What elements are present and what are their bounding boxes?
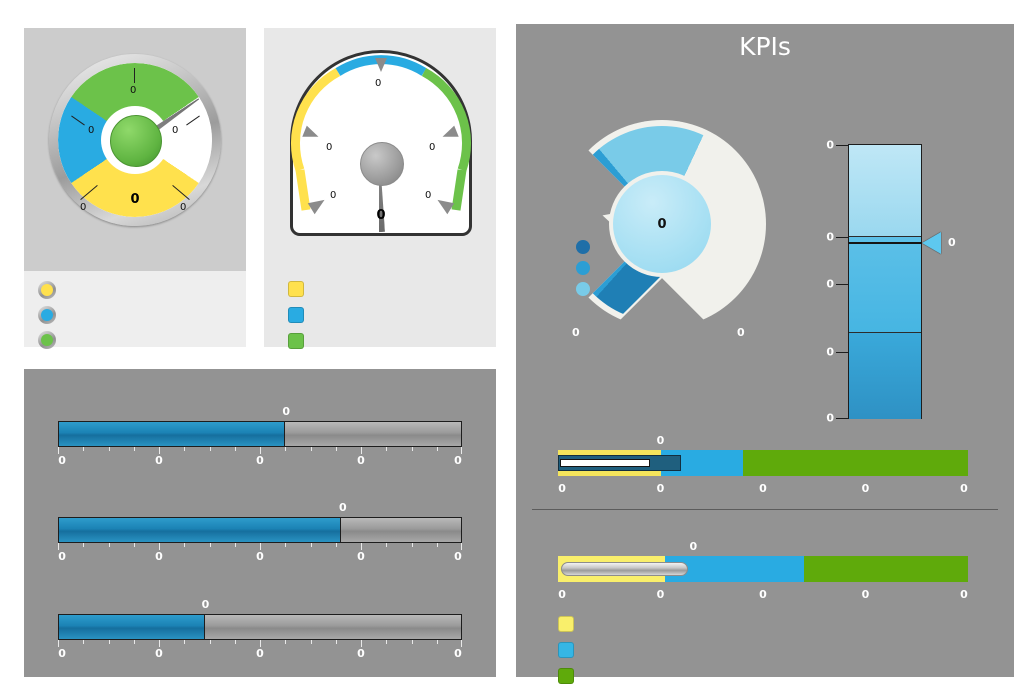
range-pointer-label: 0 [948, 236, 956, 249]
progress-bar-3-fill [59, 615, 205, 639]
range-tick [836, 352, 848, 353]
progress-bar-1-value: 0 [282, 405, 290, 418]
range-axis-label: 0 [826, 346, 834, 359]
axis-label: 0 [357, 454, 365, 467]
legend-item-green[interactable] [38, 331, 56, 349]
axis-label: 0 [960, 482, 968, 495]
range-marker-line [848, 242, 922, 244]
bullet-top-target [560, 459, 650, 467]
bullet-graph-bottom[interactable]: 0 0 0 0 0 0 [558, 556, 968, 604]
range-tick [836, 284, 848, 285]
range-pointer-icon [922, 232, 941, 254]
progress-bar-1-axis: 0 0 0 0 0 [58, 454, 462, 468]
legend-item-yellow[interactable] [288, 281, 304, 297]
range-axis-label: 0 [826, 412, 834, 425]
bullet-bottom-value: 0 [689, 540, 697, 553]
kpis-title: KPIs [516, 32, 1014, 61]
speedometer-gauge[interactable]: 0 0 0 0 0 0 [290, 50, 472, 246]
axis-label: 0 [58, 647, 66, 660]
bullet-graph-top[interactable]: 0 0 0 0 0 0 [558, 450, 968, 498]
progress-bar-1-fill [59, 422, 285, 446]
progress-bar-2-track [58, 517, 462, 543]
legend-item-green[interactable] [558, 668, 574, 684]
axis-label: 0 [454, 454, 462, 467]
legend-dot-dark-blue[interactable] [576, 240, 590, 254]
axis-label: 0 [657, 482, 665, 495]
legend-item-cyan[interactable] [558, 642, 574, 658]
progress-bar-1-ticks [58, 447, 462, 454]
range-axis-label: 0 [826, 231, 834, 244]
kpis-panel: KPIs 0 0 0 0 [516, 24, 1014, 677]
gauge-center-value: 0 [42, 192, 228, 207]
donut-left-label: 0 [572, 326, 580, 339]
range-band-light [849, 145, 921, 236]
axis-label: 0 [155, 647, 163, 660]
speedometer-value: 0 [290, 208, 472, 223]
legend-item-yellow[interactable] [558, 616, 574, 632]
speedometer-label-left: 0 [326, 142, 332, 153]
circular-gauge[interactable]: 0 0 0 0 0 0 [42, 42, 228, 256]
range-axis-label: 0 [826, 278, 834, 291]
progress-bar-3-value: 0 [202, 598, 210, 611]
bullet-bottom-track [558, 556, 968, 582]
range-axis-label: 0 [826, 139, 834, 152]
bullet-bottom-measure [561, 562, 688, 576]
progress-bar-1[interactable]: 0 0 0 0 0 0 [58, 421, 462, 468]
donut-right-label: 0 [737, 326, 745, 339]
axis-label: 0 [357, 647, 365, 660]
axis-label: 0 [558, 482, 566, 495]
progress-bar-2[interactable]: 0 0 0 0 0 0 [58, 517, 462, 564]
bullet-band-green [743, 450, 969, 476]
axis-label: 0 [58, 454, 66, 467]
vertical-range-body [848, 144, 922, 419]
axis-label: 0 [759, 482, 767, 495]
gauge-hub [110, 115, 162, 167]
speedometer-gauge-legend [264, 271, 496, 347]
axis-label: 0 [759, 588, 767, 601]
gauge-tick-label-top: 0 [130, 85, 136, 96]
axis-label: 0 [862, 482, 870, 495]
progress-bar-3-axis: 0 0 0 0 0 [58, 647, 462, 661]
progress-bar-3-track [58, 614, 462, 640]
speedometer-tick-top [375, 58, 387, 72]
dashboard-root: 0 0 0 0 0 0 [0, 0, 1032, 699]
kpi-section-divider [532, 509, 998, 510]
speedometer-label-top: 0 [375, 78, 381, 89]
speedometer-gauge-panel: 0 0 0 0 0 0 [264, 28, 496, 271]
gauge-tick-label-left: 0 [88, 125, 94, 136]
axis-label: 0 [454, 647, 462, 660]
axis-label: 0 [454, 550, 462, 563]
range-tick [836, 145, 848, 146]
donut-legend [576, 240, 590, 303]
circular-gauge-panel: 0 0 0 0 0 0 [24, 28, 246, 271]
speedometer-label-bottom-left: 0 [330, 190, 336, 201]
range-band-dark [849, 332, 921, 419]
legend-item-green[interactable] [288, 333, 304, 349]
gauge-tick-top [134, 68, 135, 83]
axis-label: 0 [155, 454, 163, 467]
axis-label: 0 [862, 588, 870, 601]
axis-label: 0 [357, 550, 365, 563]
kpis-legend [558, 616, 574, 694]
axis-label: 0 [256, 454, 264, 467]
donut-center-value: 0 [613, 175, 711, 273]
vertical-range-bar[interactable]: 0 0 0 0 0 0 [816, 124, 986, 424]
progress-bar-3-ticks [58, 640, 462, 647]
bullet-band-green [804, 556, 968, 582]
progress-bar-2-axis: 0 0 0 0 0 [58, 550, 462, 564]
speedometer-label-bottom-right: 0 [425, 190, 431, 201]
progress-bars-panel: 0 0 0 0 0 0 0 [24, 369, 496, 677]
progress-bar-2-fill [59, 518, 341, 542]
axis-label: 0 [558, 588, 566, 601]
bullet-bottom-axis: 0 0 0 0 0 [558, 588, 968, 604]
legend-item-yellow[interactable] [38, 281, 56, 299]
progress-bar-2-value: 0 [339, 501, 347, 514]
legend-item-cyan[interactable] [288, 307, 304, 323]
speedometer-label-right: 0 [429, 142, 435, 153]
range-band-medium [849, 236, 921, 333]
axis-label: 0 [256, 647, 264, 660]
progress-bar-3[interactable]: 0 0 0 0 0 0 [58, 614, 462, 661]
range-tick [836, 237, 848, 238]
legend-item-cyan[interactable] [38, 306, 56, 324]
gauge-tick-label-right: 0 [172, 125, 178, 136]
legend-dot-light-blue[interactable] [576, 282, 590, 296]
bullet-top-track [558, 450, 968, 476]
axis-label: 0 [960, 588, 968, 601]
circular-gauge-legend [24, 271, 246, 347]
axis-label: 0 [58, 550, 66, 563]
bullet-top-value: 0 [657, 434, 665, 447]
progress-bar-2-ticks [58, 543, 462, 550]
range-tick [836, 418, 848, 419]
speedometer-hub [360, 142, 404, 186]
progress-bar-1-track [58, 421, 462, 447]
legend-dot-medium-blue[interactable] [576, 261, 590, 275]
axis-label: 0 [155, 550, 163, 563]
axis-label: 0 [657, 588, 665, 601]
bullet-top-axis: 0 0 0 0 0 [558, 482, 968, 498]
donut-gauge[interactable]: 0 0 0 [558, 120, 766, 350]
axis-label: 0 [256, 550, 264, 563]
